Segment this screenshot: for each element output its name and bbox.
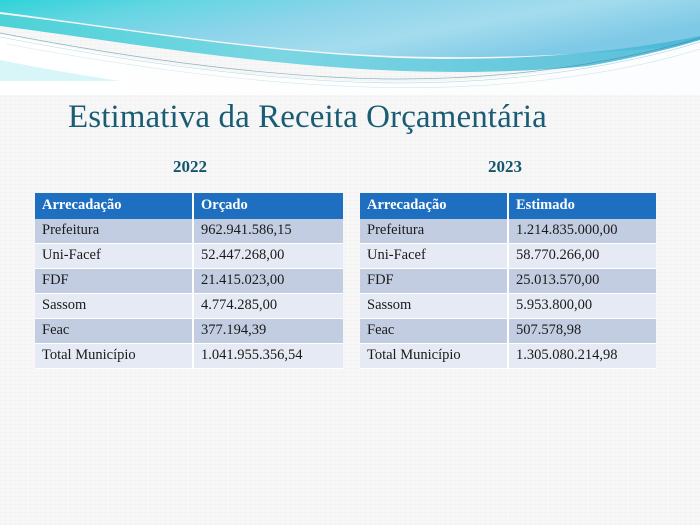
- cell-entity: Sassom: [35, 294, 193, 319]
- table-row: Feac 377.194,39: [35, 319, 343, 344]
- table-row: Uni-Facef 52.447.268,00: [35, 244, 343, 269]
- revenue-table-2022: Arrecadação Orçado Prefeitura 962.941.58…: [35, 193, 343, 369]
- cell-value: 21.415.023,00: [193, 269, 343, 294]
- table-row: Prefeitura 1.214.835.000,00: [360, 219, 656, 244]
- page-title: Estimativa da Receita Orçamentária: [68, 97, 547, 137]
- column-header-arrecadacao: Arrecadação: [360, 193, 508, 219]
- cell-value: 962.941.586,15: [193, 219, 343, 244]
- table-header-row: Arrecadação Estimado: [360, 193, 656, 219]
- table-row: Prefeitura 962.941.586,15: [35, 219, 343, 244]
- cell-entity: Prefeitura: [35, 219, 193, 244]
- cell-value: 377.194,39: [193, 319, 343, 344]
- cell-value: 507.578,98: [508, 319, 656, 344]
- cell-entity: Uni-Facef: [35, 244, 193, 269]
- cell-entity: Feac: [35, 319, 193, 344]
- cell-entity: Total Município: [360, 344, 508, 369]
- table-row-total: Total Município 1.305.080.214,98: [360, 344, 656, 369]
- cell-entity: Prefeitura: [360, 219, 508, 244]
- cell-entity: Uni-Facef: [360, 244, 508, 269]
- table-header-row: Arrecadação Orçado: [35, 193, 343, 219]
- revenue-table-2023: Arrecadação Estimado Prefeitura 1.214.83…: [360, 193, 656, 369]
- column-header-orcado: Orçado: [193, 193, 343, 219]
- table-row: Sassom 4.774.285,00: [35, 294, 343, 319]
- cell-entity: Feac: [360, 319, 508, 344]
- year-label-2023: 2023: [465, 157, 545, 177]
- cell-value: 58.770.266,00: [508, 244, 656, 269]
- cell-value: 52.447.268,00: [193, 244, 343, 269]
- table-row: Feac 507.578,98: [360, 319, 656, 344]
- column-header-estimado: Estimado: [508, 193, 656, 219]
- table-row: FDF 21.415.023,00: [35, 269, 343, 294]
- column-header-arrecadacao: Arrecadação: [35, 193, 193, 219]
- slide-canvas: Estimativa da Receita Orçamentária 2022 …: [0, 0, 700, 525]
- cell-value: 1.041.955.356,54: [193, 344, 343, 369]
- cell-value: 1.214.835.000,00: [508, 219, 656, 244]
- table-row-total: Total Município 1.041.955.356,54: [35, 344, 343, 369]
- cell-entity: FDF: [360, 269, 508, 294]
- table-row: Uni-Facef 58.770.266,00: [360, 244, 656, 269]
- decorative-wave-banner: [0, 0, 700, 95]
- cell-entity: Sassom: [360, 294, 508, 319]
- cell-value: 5.953.800,00: [508, 294, 656, 319]
- table-row: Sassom 5.953.800,00: [360, 294, 656, 319]
- cell-value: 1.305.080.214,98: [508, 344, 656, 369]
- cell-entity: Total Município: [35, 344, 193, 369]
- cell-value: 25.013.570,00: [508, 269, 656, 294]
- cell-value: 4.774.285,00: [193, 294, 343, 319]
- table-row: FDF 25.013.570,00: [360, 269, 656, 294]
- year-label-2022: 2022: [150, 157, 230, 177]
- cell-entity: FDF: [35, 269, 193, 294]
